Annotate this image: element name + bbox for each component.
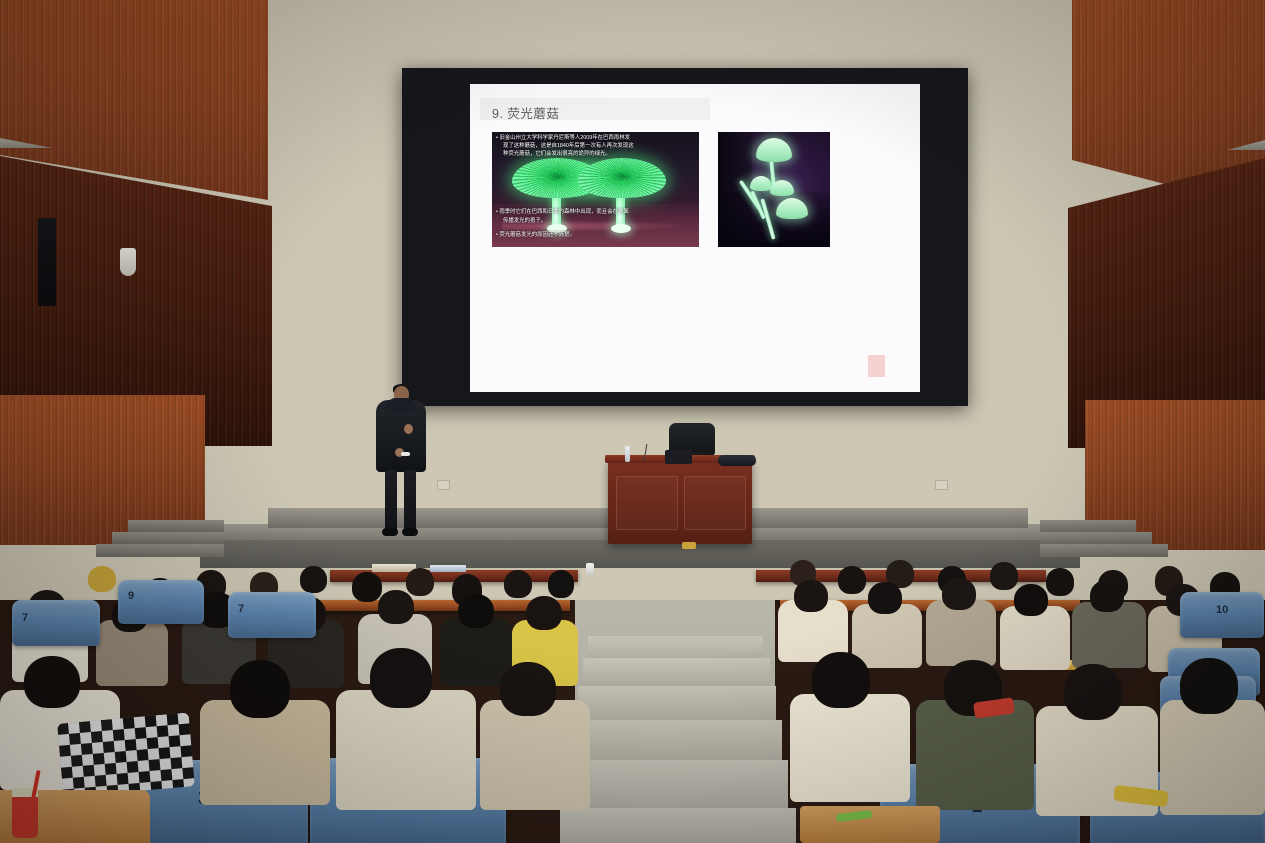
slide-bullet-line-3: 种荧光蘑菇，它们会发出很亮的诡异的绿光。	[503, 150, 699, 158]
audience-person-front	[500, 662, 556, 716]
left-wall-sconce	[120, 248, 136, 276]
audience-person-front	[230, 660, 290, 718]
seat-back[interactable]	[118, 580, 204, 624]
checkered-bag	[57, 712, 195, 797]
presenter-leg-left	[385, 470, 397, 532]
slide-bullet-line-4: • 雨季时它们在巴西和日本的森林中出现，而且会在地面	[496, 208, 692, 216]
slide-bullet-line-5: 传播发光的孢子。	[503, 217, 699, 225]
audience-person	[1090, 580, 1124, 612]
audience-person-front	[1180, 658, 1238, 714]
seat-number: 9	[128, 590, 134, 602]
aisle-step-4	[572, 720, 782, 761]
glowing-mushroom-pair-photo: • 旧金山州立大学科学家丹尼斯等人2009年在巴西雨林发 现了这种蘑菇，这是自1…	[492, 132, 699, 247]
audience-person	[1046, 568, 1074, 596]
jacket-on-desk	[718, 455, 756, 466]
slide-accent-block	[868, 355, 885, 377]
aisle-step-1	[588, 636, 763, 659]
audience-person	[440, 618, 512, 686]
projector-box	[665, 450, 692, 464]
presenter-leg-right	[404, 470, 416, 532]
stage-front-face	[200, 540, 1080, 568]
audience-person-front	[790, 694, 910, 802]
audience-person	[838, 566, 866, 594]
stage-step-right-1	[1040, 520, 1136, 532]
stage-step-left-1	[128, 520, 224, 532]
lecture-hall-scene: 9. 荧光蘑菇 • 旧金山州立大学科学家丹尼斯等人2009年在巴西雨林发 现了这…	[0, 0, 1265, 843]
slide-bullet-line-6: • 荧光蘑菇发光的原因还不清楚。	[496, 231, 692, 239]
desk-panel-left	[616, 476, 678, 530]
presenter-shoe-left	[382, 528, 398, 536]
water-bottle	[625, 446, 630, 462]
audience-person-front	[1160, 700, 1265, 815]
presenter-clicker	[401, 452, 410, 456]
aisle-step-2	[583, 658, 770, 687]
seat-number: 10	[1216, 604, 1228, 616]
aisle-step-5	[566, 760, 788, 809]
seat-back[interactable]	[228, 592, 316, 638]
wall-outlet-left	[437, 480, 450, 490]
presenter-desk	[608, 460, 752, 544]
stage-step-left-2	[112, 532, 224, 544]
projected-slide: 9. 荧光蘑菇 • 旧金山州立大学科学家丹尼斯等人2009年在巴西雨林发 现了这…	[470, 84, 920, 392]
presenter-hand-right	[404, 424, 413, 434]
stage-step-right-3	[1040, 544, 1168, 557]
projection-screen: 9. 荧光蘑菇 • 旧金山州立大学科学家丹尼斯等人2009年在巴西雨林发 现了这…	[402, 68, 968, 406]
books-on-desk-b	[430, 565, 466, 572]
cup-on-desk-front	[586, 563, 594, 575]
slide-title: 9. 荧光蘑菇	[492, 103, 559, 122]
audience-person	[794, 580, 828, 612]
audience-person-front	[480, 700, 590, 810]
seat-number: 7	[238, 603, 244, 615]
audience-person	[990, 562, 1018, 590]
audience-person-front	[24, 656, 80, 708]
audience-person-front	[370, 648, 432, 708]
audience-person-front	[1064, 664, 1122, 720]
audience-person	[458, 594, 494, 628]
glowing-mushroom-cluster-photo	[718, 132, 830, 247]
presenter-hood	[386, 398, 416, 412]
audience-person	[406, 568, 434, 596]
presenter-shoe-right	[402, 528, 418, 536]
audience-person	[1014, 584, 1048, 616]
audience-person	[88, 566, 116, 592]
aisle-step-3	[578, 686, 776, 721]
stage-step-left-3	[96, 544, 224, 557]
slide-bullet-line-1: • 旧金山州立大学科学家丹尼斯等人2009年在巴西雨林发	[496, 134, 692, 142]
audience-person	[942, 578, 976, 610]
audience-person-front	[336, 690, 476, 810]
seat-number: 7	[22, 612, 28, 624]
audience-person	[378, 590, 414, 624]
wall-outlet-right	[935, 480, 948, 490]
audience-person-front	[812, 652, 870, 708]
audience-person	[352, 572, 382, 602]
audience-person	[300, 566, 327, 593]
stage-floor-marker	[682, 542, 696, 549]
audience-person	[868, 582, 902, 614]
audience-person	[526, 596, 562, 630]
slide-bullet-line-2: 现了这种蘑菇，这是自1840年后第一次有人再次发现这	[503, 142, 699, 150]
audience-person	[504, 570, 532, 598]
audience-person	[548, 570, 574, 598]
desk-panel-right	[684, 476, 746, 530]
stage-step-right-2	[1040, 532, 1152, 544]
aisle-step-6	[560, 808, 796, 843]
left-wall-speaker	[38, 218, 56, 306]
